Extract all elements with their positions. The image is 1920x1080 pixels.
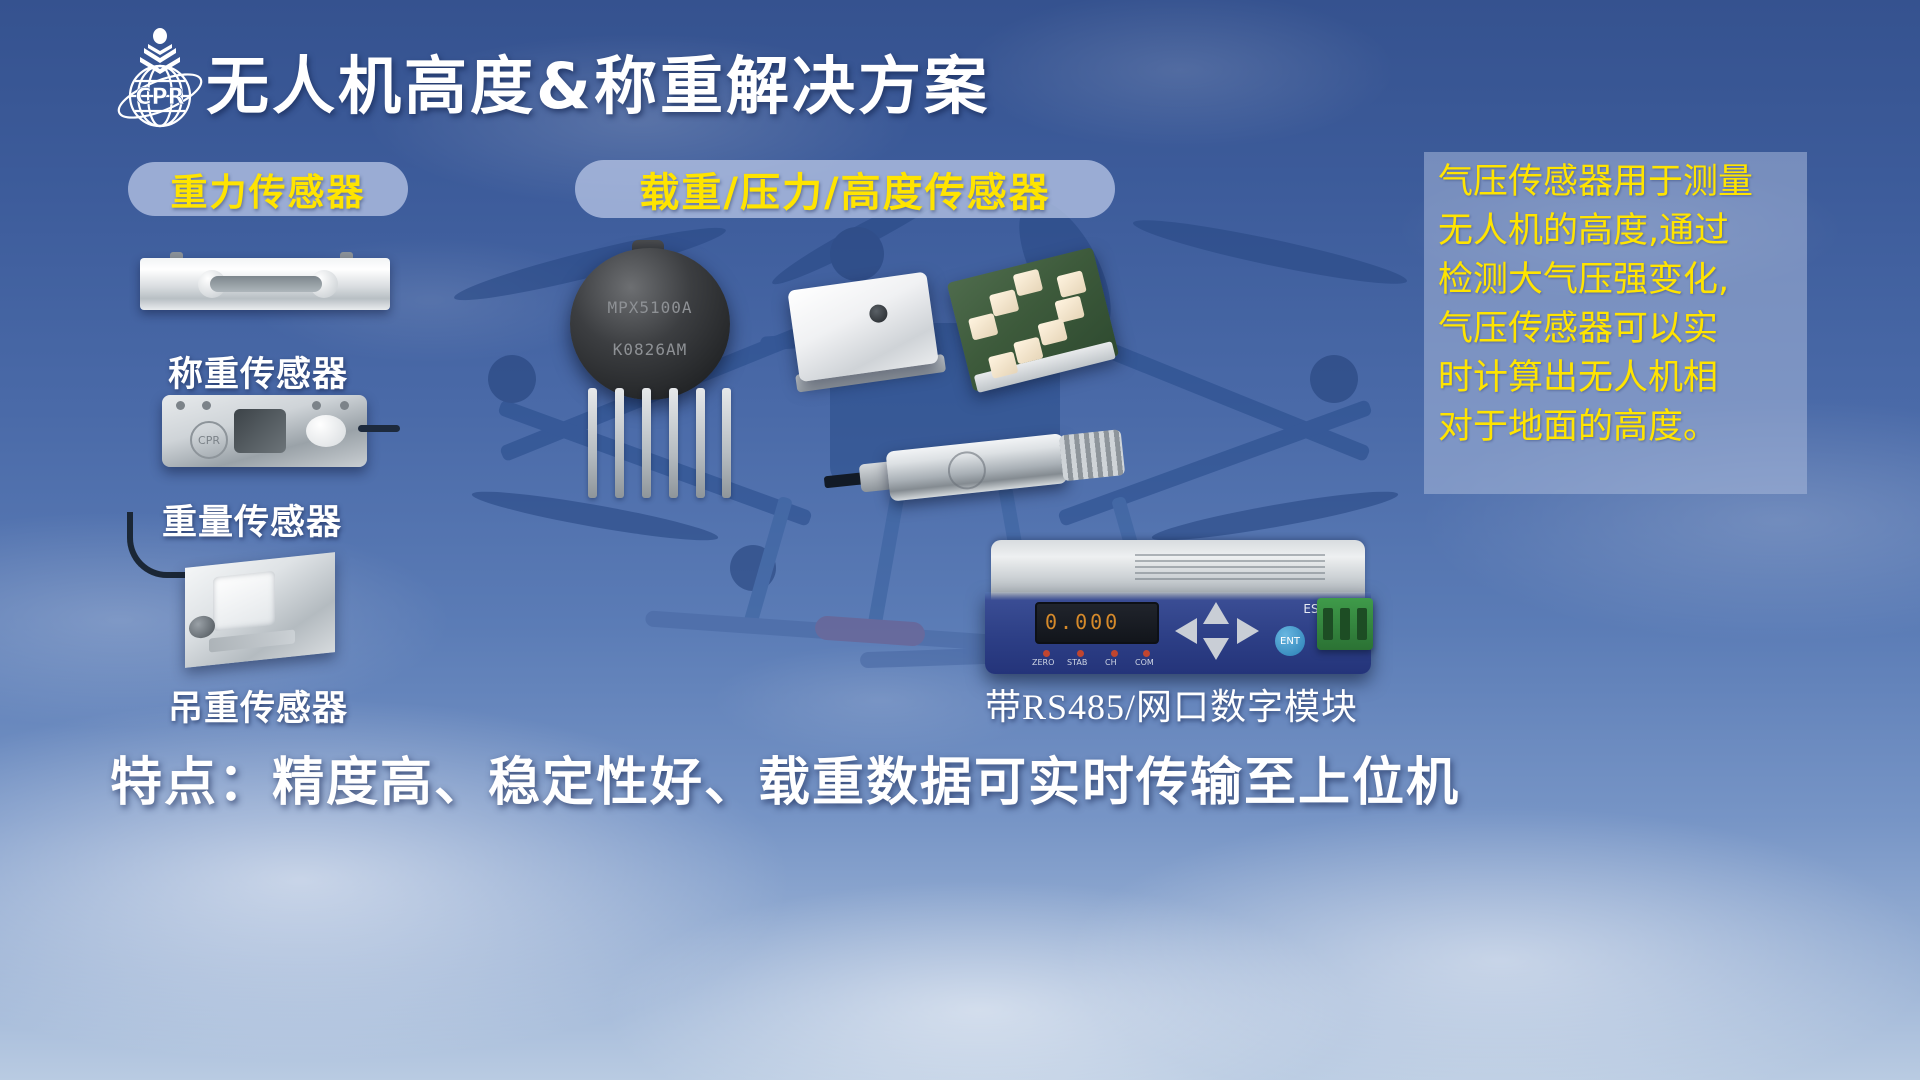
- info-line-1: 气压传感器用于测量: [1438, 158, 1797, 207]
- product-image-digital-weighing-module: 0.000 ZERO STAB CH COM ESC ENT: [985, 540, 1375, 675]
- label-gravity-sensor: 重力传感器: [128, 162, 408, 216]
- cpr-emblem-small: CPR: [190, 421, 228, 459]
- info-line-5: 时计算出无人机相: [1438, 354, 1797, 403]
- mpx-sensor-label-line1: MPX5100A: [570, 298, 730, 317]
- product-image-hanging-load-cell: [185, 560, 350, 675]
- module-display-value: 0.000: [1045, 610, 1120, 634]
- module-led-label-ch: CH: [1105, 658, 1117, 667]
- cpr-globe-logo: CPR: [104, 24, 216, 136]
- info-line-4: 气压传感器可以实: [1438, 305, 1797, 354]
- product-image-weight-load-cell: CPR: [162, 395, 367, 480]
- svg-text:CPR: CPR: [135, 85, 184, 110]
- product-image-mpx-pressure-sensor: MPX5100A K0826AM: [570, 248, 742, 508]
- footer-feature-text: 特点：精度高、稳定性好、载重数据可实时传输至上位机: [110, 740, 1460, 815]
- info-panel-barometric-description: 气压传感器用于测量 无人机的高度,通过 检测大气压强变化, 气压传感器可以实 时…: [1424, 152, 1807, 494]
- info-line-6: 对于地面的高度。: [1438, 403, 1797, 452]
- mpx-sensor-label-line2: K0826AM: [570, 340, 730, 359]
- module-terminal-connector: [1317, 598, 1373, 650]
- module-led-label-com: COM: [1135, 658, 1154, 667]
- module-top-label: [1135, 554, 1325, 580]
- product-image-mems-barometric-module: [787, 270, 952, 410]
- label-load-pressure-height-sensor: 载重/压力/高度传感器: [575, 160, 1115, 218]
- caption-weighing-sensor: 称重传感器: [168, 346, 348, 397]
- caption-digital-module: 带RS485/网口数字模块: [985, 678, 1358, 730]
- caption-hanging-sensor: 吊重传感器: [168, 680, 348, 731]
- module-ent-button[interactable]: ENT: [1275, 626, 1305, 656]
- page-title: 无人机高度&称重解决方案: [206, 36, 990, 127]
- module-led-label-zero: ZERO: [1032, 658, 1054, 667]
- info-line-2: 无人机的高度,通过: [1438, 207, 1797, 256]
- info-line-3: 检测大气压强变化,: [1438, 256, 1797, 305]
- product-image-weighing-load-cell: [140, 250, 390, 320]
- module-led-label-stab: STAB: [1067, 658, 1087, 667]
